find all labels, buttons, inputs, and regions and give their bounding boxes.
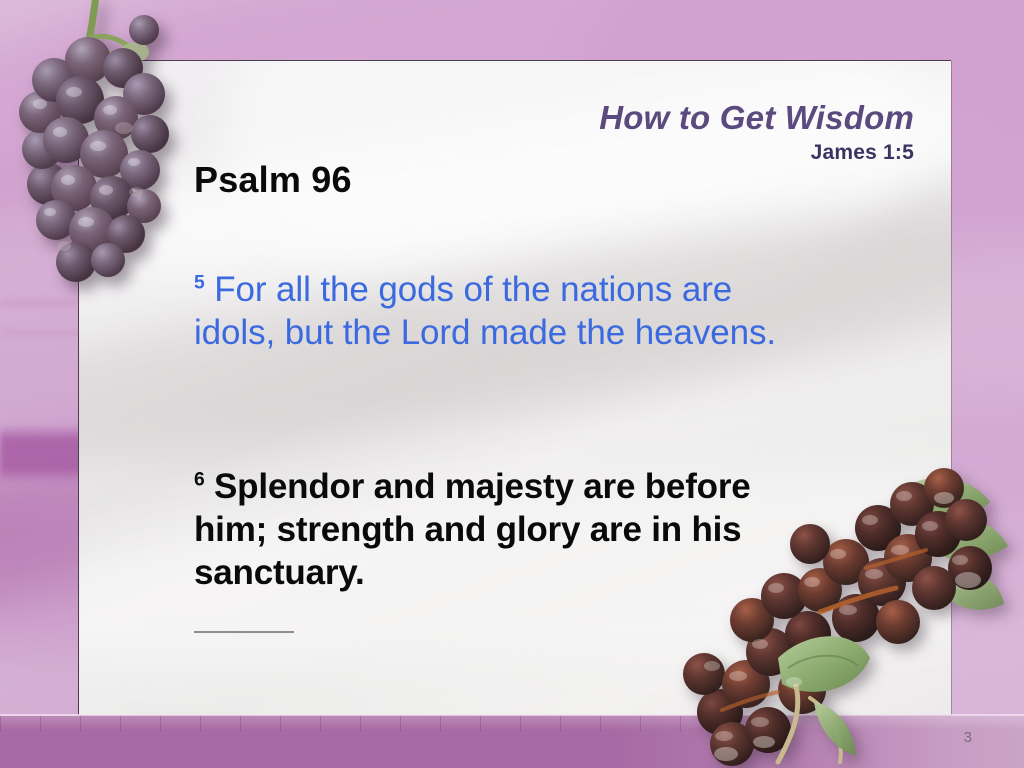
grape-cluster-top-left-icon <box>4 0 179 284</box>
title-block: How to Get Wisdom James 1:5 <box>509 101 914 165</box>
grape-cluster-bottom-right-icon <box>660 462 1024 768</box>
verse-5-number: 5 <box>194 272 205 293</box>
bottom-band-ticks <box>0 716 700 732</box>
page-title: How to Get Wisdom <box>509 101 914 136</box>
grape-cluster-top-left-svg <box>4 0 179 284</box>
underline-mark <box>194 631 294 633</box>
presentation-slide: How to Get Wisdom James 1:5 Psalm 96 5 F… <box>0 0 1024 768</box>
scripture-reference: James 1:5 <box>509 141 914 165</box>
verse-6-number: 6 <box>194 469 205 490</box>
verse-5-body: For all the gods of the nations are idol… <box>194 270 776 352</box>
slide-number: 3 <box>964 729 972 746</box>
verse-5-text: 5 For all the gods of the nations are id… <box>194 269 804 354</box>
grape-cluster-bottom-right-svg <box>660 462 1024 768</box>
psalm-heading: Psalm 96 <box>194 159 352 201</box>
